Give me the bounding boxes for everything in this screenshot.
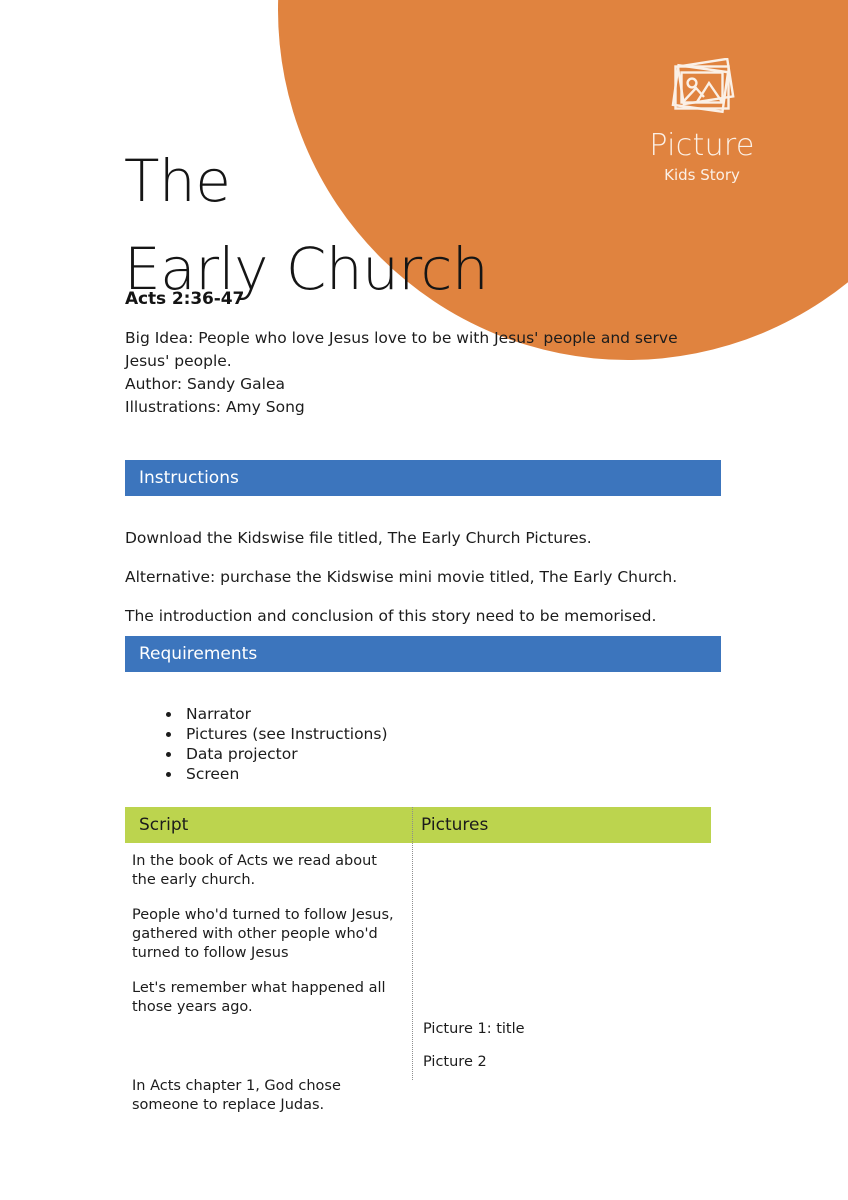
script-table-column-divider xyxy=(412,807,413,1080)
script-table-header: Script Pictures xyxy=(125,807,711,843)
instructions-paragraph-3: The introduction and conclusion of this … xyxy=(125,606,725,627)
script-entry: In Acts chapter 1, God chose someone to … xyxy=(132,1077,400,1115)
section-header-requirements-label: Requirements xyxy=(139,644,257,664)
section-header-instructions-label: Instructions xyxy=(139,468,239,488)
picture-entry: Picture 1: title xyxy=(423,1020,683,1039)
meta-line-illustrations: Illustrations: Amy Song xyxy=(125,396,715,419)
meta-line-big-idea-2: Jesus' people. xyxy=(125,350,715,373)
picture-entry: Picture 2 xyxy=(423,1053,683,1072)
script-entry: People who'd turned to follow Jesus, gat… xyxy=(132,906,400,963)
badge-title: Picture xyxy=(592,130,812,162)
section-header-instructions: Instructions xyxy=(125,460,721,496)
list-item: Pictures (see Instructions) xyxy=(182,724,662,744)
document-meta: Big Idea: People who love Jesus love to … xyxy=(125,327,715,419)
script-column: In the book of Acts we read about the ea… xyxy=(132,852,400,1115)
badge-subtitle: Kids Story xyxy=(592,166,812,184)
list-item: Screen xyxy=(182,764,662,784)
scripture-reference: Acts 2:36-47 xyxy=(125,289,244,309)
document-page: Picture Kids Story The Early Church Acts… xyxy=(0,0,848,1200)
picture-stack-icon xyxy=(666,58,738,120)
page-title: The Early Church xyxy=(124,137,594,313)
requirements-list: Narrator Pictures (see Instructions) Dat… xyxy=(150,704,662,784)
column-header-pictures: Pictures xyxy=(421,807,488,843)
section-header-requirements: Requirements xyxy=(125,636,721,672)
meta-line-author: Author: Sandy Galea xyxy=(125,373,715,396)
list-item: Data projector xyxy=(182,744,662,764)
page-title-line-1: The xyxy=(124,137,594,225)
instructions-paragraph-1: Download the Kidswise file titled, The E… xyxy=(125,528,725,549)
instructions-body: Download the Kidswise file titled, The E… xyxy=(125,528,725,627)
column-header-script: Script xyxy=(139,807,188,843)
meta-line-big-idea-1: Big Idea: People who love Jesus love to … xyxy=(125,327,715,350)
pictures-column: Picture 1: title Picture 2 xyxy=(423,1020,683,1072)
script-entry: In the book of Acts we read about the ea… xyxy=(132,852,400,890)
script-entry: Let's remember what happened all those y… xyxy=(132,979,400,1017)
badge-content: Picture Kids Story xyxy=(592,58,812,184)
instructions-paragraph-2: Alternative: purchase the Kidswise mini … xyxy=(125,567,725,588)
list-item: Narrator xyxy=(182,704,662,724)
